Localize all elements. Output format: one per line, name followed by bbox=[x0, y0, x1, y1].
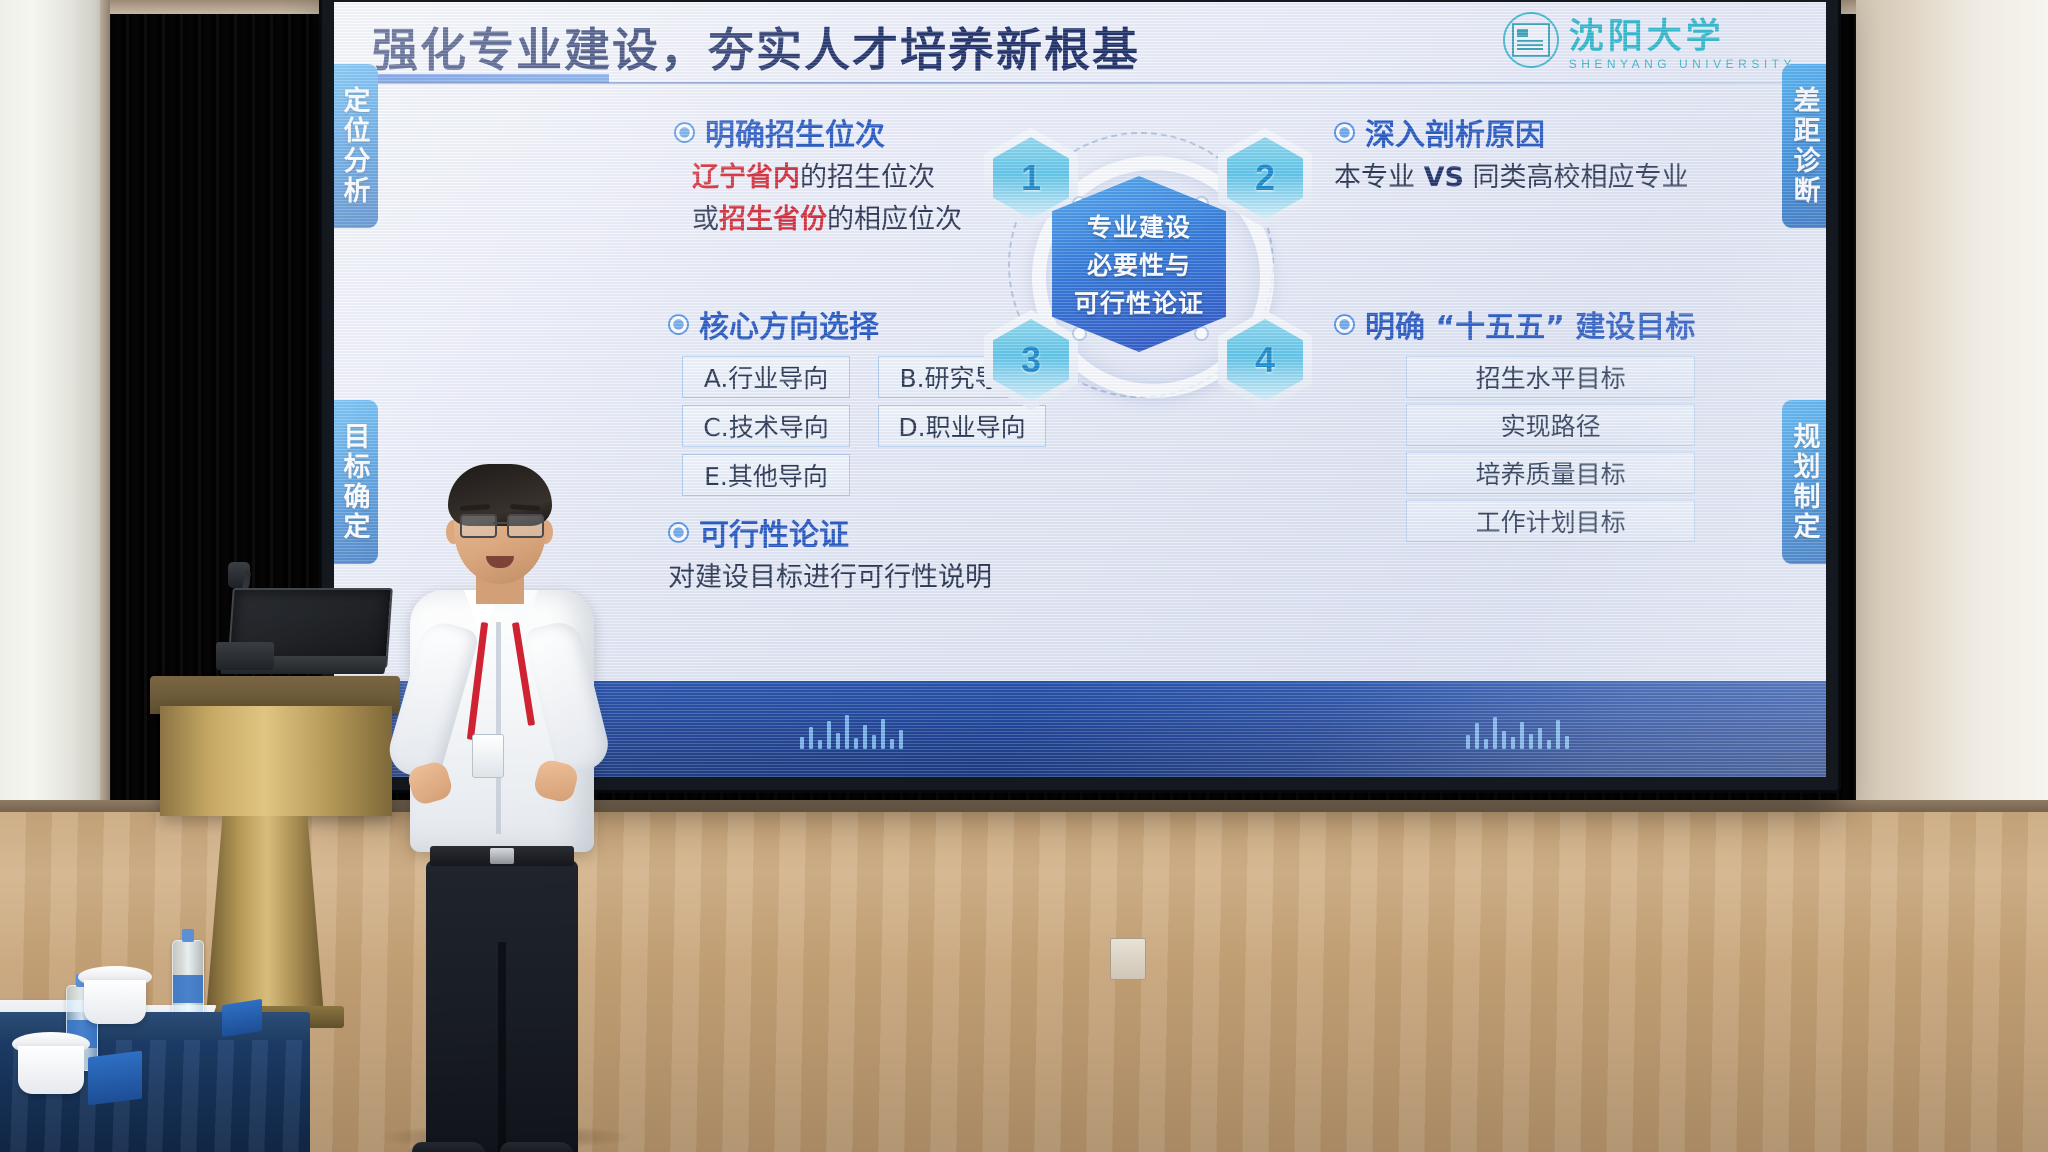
left-pillar-edge bbox=[100, 0, 110, 812]
bullet-dot-icon bbox=[1334, 122, 1355, 143]
left-pillar bbox=[0, 0, 108, 812]
left-shoe bbox=[412, 1142, 486, 1152]
block-construction-goals: 明确 “十五五” 建设目标 招生水平目标 实现路径 培养质量目标 工作计划目标 bbox=[1334, 302, 1695, 542]
block-heading: 明确招生位次 bbox=[674, 110, 962, 154]
line-part: 同类高校相应专业 bbox=[1464, 162, 1689, 193]
book-seal-icon bbox=[1503, 12, 1559, 68]
shirt-placket bbox=[496, 622, 501, 834]
bullet-dot-icon bbox=[674, 122, 695, 143]
core-line: 必要性与 bbox=[1087, 246, 1191, 282]
slide-title: 强化专业建设，夯实人才培养新根基 bbox=[372, 14, 1392, 80]
block-heading-text: 核心方向选择 bbox=[699, 302, 879, 346]
option-item[interactable]: A.行业导向 bbox=[682, 356, 850, 398]
podium-body: 长春大学 bbox=[160, 706, 392, 816]
right-wall-panel bbox=[1856, 0, 2048, 812]
block-enrollment-rank: 明确招生位次 辽宁省内的招生位次 或招生省份的相应位次 bbox=[674, 110, 962, 237]
conference-scene: 强化专业建设，夯实人才培养新根基 沈阳大学 SHENYANG UNIVERSIT… bbox=[0, 0, 2048, 1152]
hex-node-label: 3 bbox=[1021, 339, 1041, 381]
block-line: 或招生省份的相应位次 bbox=[692, 202, 962, 238]
sub-line: 对建设目标进行可行性说明 bbox=[668, 560, 1046, 596]
option-item[interactable]: E.其他导向 bbox=[682, 454, 850, 496]
sidebar-tab-left-1[interactable]: 定位分析 bbox=[334, 64, 378, 228]
connector-node bbox=[1196, 328, 1207, 339]
diagram-core: 专业建设 必要性与 可行性论证 bbox=[1052, 176, 1226, 352]
trouser-seam bbox=[498, 942, 506, 1152]
option-item[interactable]: C.技术导向 bbox=[682, 405, 850, 447]
goal-item[interactable]: 培养质量目标 bbox=[1406, 452, 1695, 494]
hex-node-label: 2 bbox=[1255, 157, 1275, 199]
hex-node-label: 1 bbox=[1021, 157, 1041, 199]
university-logo: 沈阳大学 SHENYANG UNIVERSITY bbox=[1503, 8, 1796, 71]
name-card bbox=[88, 1051, 142, 1106]
podium-stem bbox=[206, 816, 324, 1016]
block-line: 辽宁省内的招生位次 bbox=[692, 160, 962, 196]
right-shoe bbox=[500, 1142, 574, 1152]
belt-buckle bbox=[490, 848, 514, 864]
bullet-dot-icon bbox=[668, 522, 689, 543]
sidebar-tab-left-2[interactable]: 目标确定 bbox=[334, 400, 378, 564]
hexagon-cycle-diagram: 1 2 3 4 bbox=[956, 114, 1316, 424]
control-box[interactable] bbox=[216, 642, 274, 670]
block-line: 本专业 VS 同类高校相应专业 bbox=[1334, 160, 1689, 196]
tea-cup bbox=[84, 980, 146, 1024]
wall-socket[interactable] bbox=[1110, 938, 1146, 980]
line-part: 本专业 bbox=[1334, 162, 1424, 193]
goal-item[interactable]: 工作计划目标 bbox=[1406, 500, 1695, 542]
goal-list: 招生水平目标 实现路径 培养质量目标 工作计划目标 bbox=[1406, 356, 1695, 542]
block-heading: 深入剖析原因 bbox=[1334, 110, 1689, 154]
line-part: VS bbox=[1424, 162, 1464, 193]
line-part: 或 bbox=[692, 204, 719, 235]
line-part: 的招生位次 bbox=[800, 162, 935, 193]
logo-name-en: SHENYANG UNIVERSITY bbox=[1569, 57, 1796, 71]
equalizer-graphic-right bbox=[1466, 717, 1569, 749]
bullet-dot-icon bbox=[1334, 314, 1355, 335]
hex-node-label: 4 bbox=[1255, 339, 1275, 381]
block-heading: 明确 “十五五” 建设目标 bbox=[1334, 302, 1695, 346]
id-badge bbox=[472, 734, 504, 778]
logo-name-cn: 沈阳大学 bbox=[1569, 8, 1796, 59]
connector-node bbox=[1074, 328, 1085, 339]
sub-heading: 可行性论证 bbox=[668, 510, 1046, 554]
core-line: 专业建设 bbox=[1087, 208, 1191, 244]
line-part: 辽宁省内 bbox=[692, 162, 800, 193]
line-part: 招生省份 bbox=[719, 204, 827, 235]
sidebar-tab-right-2[interactable]: 规划制定 bbox=[1782, 400, 1826, 564]
bullet-dot-icon bbox=[668, 314, 689, 335]
speaker-figure bbox=[404, 472, 604, 1152]
sidebar-tab-right-1[interactable]: 差距诊断 bbox=[1782, 64, 1826, 228]
tea-cup bbox=[18, 1046, 84, 1094]
block-heading-text: 明确招生位次 bbox=[705, 110, 885, 154]
block-heading-text: 深入剖析原因 bbox=[1365, 110, 1545, 154]
core-line: 可行性论证 bbox=[1074, 284, 1204, 320]
goal-item[interactable]: 招生水平目标 bbox=[1406, 356, 1695, 398]
block-heading-text: 明确 “十五五” 建设目标 bbox=[1365, 302, 1695, 346]
block-cause-analysis: 深入剖析原因 本专业 VS 同类高校相应专业 bbox=[1334, 110, 1689, 196]
eyeglasses-icon bbox=[458, 514, 544, 534]
goal-item[interactable]: 实现路径 bbox=[1406, 404, 1695, 446]
name-card bbox=[222, 999, 262, 1037]
sub-heading-text: 可行性论证 bbox=[699, 510, 849, 554]
line-part: 的相应位次 bbox=[827, 204, 962, 235]
title-rule bbox=[352, 82, 1802, 84]
equalizer-graphic-left bbox=[800, 715, 903, 749]
